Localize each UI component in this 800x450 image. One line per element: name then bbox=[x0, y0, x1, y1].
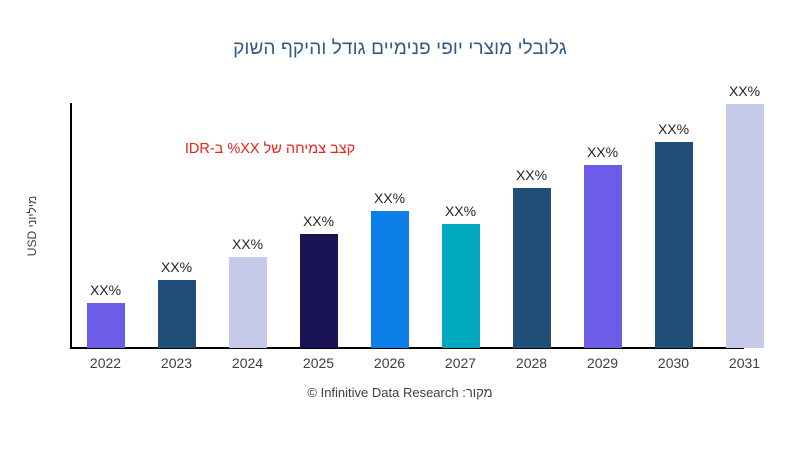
bar-value-label-2031: XX% bbox=[729, 83, 760, 99]
bar-2031[interactable] bbox=[726, 104, 764, 349]
bar-value-label-2024: XX% bbox=[232, 236, 263, 252]
bar-2023[interactable] bbox=[158, 280, 196, 348]
bar-group-2027: XX%2027 bbox=[442, 224, 480, 348]
bar-group-2023: XX%2023 bbox=[158, 280, 196, 348]
bar-2027[interactable] bbox=[442, 224, 480, 348]
bar-group-2028: XX%2028 bbox=[513, 188, 551, 348]
bar-value-label-2026: XX% bbox=[374, 190, 405, 206]
bar-value-label-2028: XX% bbox=[516, 167, 547, 183]
x-tick-label-2031: 2031 bbox=[729, 355, 760, 371]
bar-group-2029: XX%2029 bbox=[584, 165, 622, 348]
bar-value-label-2022: XX% bbox=[90, 282, 121, 298]
x-tick-label-2022: 2022 bbox=[90, 355, 121, 371]
bar-2029[interactable] bbox=[584, 165, 622, 348]
bar-group-2026: XX%2026 bbox=[371, 211, 409, 348]
bar-value-label-2030: XX% bbox=[658, 121, 689, 137]
bar-2028[interactable] bbox=[513, 188, 551, 348]
x-tick-label-2026: 2026 bbox=[374, 355, 405, 371]
bar-value-label-2025: XX% bbox=[303, 213, 334, 229]
x-tick-label-2028: 2028 bbox=[516, 355, 547, 371]
bar-group-2022: XX%2022 bbox=[87, 303, 125, 348]
bar-group-2031: XX%2031 bbox=[726, 104, 764, 349]
bar-2030[interactable] bbox=[655, 142, 693, 348]
x-tick-label-2024: 2024 bbox=[232, 355, 263, 371]
chart-container: גלובלי מוצרי יופי פנימיים גודל והיקף השו… bbox=[0, 0, 800, 450]
bar-group-2024: XX%2024 bbox=[229, 257, 267, 348]
bar-series: XX%2022XX%2023XX%2024XX%2025XX%2026XX%20… bbox=[0, 0, 800, 450]
bar-value-label-2023: XX% bbox=[161, 259, 192, 275]
bar-group-2030: XX%2030 bbox=[655, 142, 693, 348]
x-tick-label-2030: 2030 bbox=[658, 355, 689, 371]
source-note: מקור: Infinitive Data Research © bbox=[0, 385, 800, 400]
bar-2026[interactable] bbox=[371, 211, 409, 348]
x-tick-label-2029: 2029 bbox=[587, 355, 618, 371]
x-tick-label-2025: 2025 bbox=[303, 355, 334, 371]
bar-value-label-2027: XX% bbox=[445, 203, 476, 219]
bar-2024[interactable] bbox=[229, 257, 267, 348]
bar-2022[interactable] bbox=[87, 303, 125, 348]
bar-2025[interactable] bbox=[300, 234, 338, 348]
x-tick-label-2023: 2023 bbox=[161, 355, 192, 371]
bar-value-label-2029: XX% bbox=[587, 144, 618, 160]
x-tick-label-2027: 2027 bbox=[445, 355, 476, 371]
bar-group-2025: XX%2025 bbox=[300, 234, 338, 348]
